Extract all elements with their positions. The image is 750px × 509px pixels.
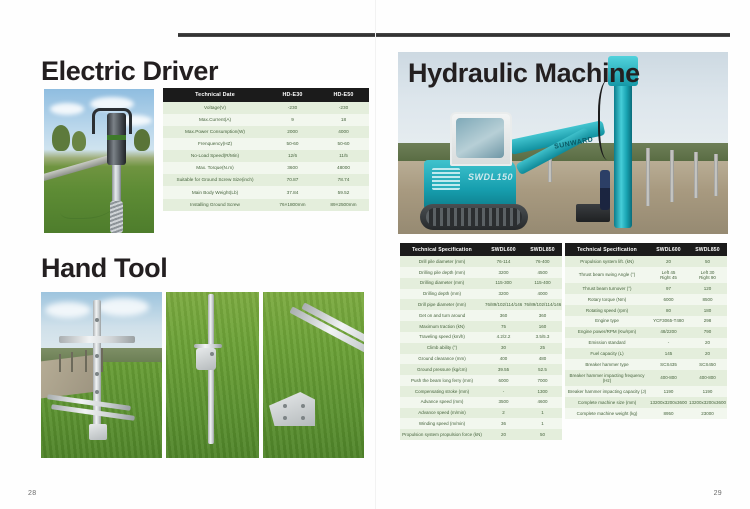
table-row: Ground pressure (kg/cm)39.5552.5 <box>400 364 562 375</box>
row-label: Complete machine size (mm) <box>565 397 649 408</box>
electric-driver-spec-table: Technical Date HD-E30 HD-E50 Voltage(V)-… <box>163 88 369 211</box>
row-value: 48/2200 <box>649 327 688 338</box>
table-row: Suitable for Ground Screw Size(inch)70.8… <box>163 174 369 186</box>
row-value: 50-60 <box>318 138 369 150</box>
table-row: Winding speed (m/min)361 <box>400 418 562 429</box>
hand-tool-photo-1 <box>41 292 162 458</box>
col-header-swdl850: SWDL850 <box>523 243 562 256</box>
row-value: -230 <box>267 102 318 114</box>
table-row: Thrust beam swing Angle (°)Left 45Right … <box>565 267 727 283</box>
catalog-spread: Electric Driver Technical Date HD-E30 HD… <box>0 0 750 509</box>
row-value: 18 <box>318 114 369 126</box>
col-header-spec: Technical Specification <box>400 243 484 256</box>
electric-driver-photo <box>44 89 154 233</box>
row-label: Climb ability (°) <box>400 343 484 354</box>
col-header-swdl850: SWDL850 <box>688 243 727 256</box>
row-label: Engine type <box>565 316 649 327</box>
row-value: 11/5 <box>318 150 369 162</box>
table-header-row: Technical Specification SWDL600 SWDL850 <box>565 243 727 256</box>
table-row: No-Load Speed(R/Min)12/611/5 <box>163 150 369 162</box>
table-row: Maximum traction (kN)75160 <box>400 321 562 332</box>
row-value: 480 <box>523 354 562 365</box>
row-value: 180 <box>688 305 727 316</box>
col-header-swdl600: SWDL600 <box>484 243 523 256</box>
table-row: Complete machine weight (kg)895023000 <box>565 408 727 419</box>
row-value: 298 <box>688 316 727 327</box>
row-value: Left 45Right 45 <box>649 267 688 283</box>
table-row: Complete machine size (mm)13200x3200x360… <box>565 397 727 408</box>
row-value: - <box>484 386 523 397</box>
row-label: Breaker hammer type <box>565 359 649 370</box>
col-header-spec: Technical Specification <box>565 243 649 256</box>
row-value: 97 <box>649 283 688 294</box>
row-value: 3500 <box>484 397 523 408</box>
table-row: Compensating stroke (mm)-1300 <box>400 386 562 397</box>
row-value: 76/89/102/114/146 <box>523 299 562 310</box>
hand-tool-photo-2 <box>166 292 259 458</box>
row-label: Advance speed (mm) <box>400 397 484 408</box>
row-label: Thrust beam turnover (°) <box>565 283 649 294</box>
table-row: Engine power/RPM (Kw/rpm)48/2200790 <box>565 327 727 338</box>
table-header-row: Technical Date HD-E30 HD-E50 <box>163 88 369 102</box>
row-value: 9 <box>267 114 318 126</box>
row-value: 59.52 <box>318 186 369 198</box>
row-label: Ground clearance (mm) <box>400 354 484 365</box>
row-value: 76/89/102/114/146 <box>484 299 523 310</box>
table-row: Engine typeYCF3065-T480298 <box>565 316 727 327</box>
table-row: Breaker hammer typeSCS435SCS450 <box>565 359 727 370</box>
table-row: Ground clearance (mm)400480 <box>400 354 562 365</box>
row-value: 80 <box>649 305 688 316</box>
table-row: Breaker hammer impacting frequency (Hz)4… <box>565 370 727 386</box>
table-row: Breaker hammer impacting capacity (J)119… <box>565 386 727 397</box>
row-label: Main Body Weight(Lb) <box>163 186 267 198</box>
row-label: Breaker hammer impacting capacity (J) <box>565 386 649 397</box>
row-label: Breaker hammer impacting frequency (Hz) <box>565 370 649 386</box>
row-value: 37.84 <box>267 186 318 198</box>
table-row: Push the beam long ferry (mm)60007000 <box>400 375 562 386</box>
hydraulic-right-table-body: Propulsion system lift. (kN)2050Thrust b… <box>565 256 727 419</box>
top-divider-rule <box>178 33 730 37</box>
row-value: 30 <box>484 343 523 354</box>
row-value: 3.5/5.3 <box>523 332 562 343</box>
row-value: 4000 <box>523 289 562 300</box>
row-label: Drilling pile depth (mm) <box>400 267 484 278</box>
row-value: 1190 <box>688 386 727 397</box>
row-value: 3200 <box>484 289 523 300</box>
section-title-electric-driver: Electric Driver <box>41 56 218 87</box>
row-value: 76-400 <box>523 256 562 267</box>
row-value: 13200x3200x3600 <box>688 397 727 408</box>
row-value: 6000 <box>649 294 688 305</box>
row-value: 360 <box>523 310 562 321</box>
row-value: 1190 <box>649 386 688 397</box>
row-label: Max.Current(A) <box>163 114 267 126</box>
table-row: Advance speed (m/min)21 <box>400 408 562 419</box>
row-value: 115-400 <box>523 278 562 289</box>
row-value: 52.5 <box>523 364 562 375</box>
row-label: Max. Torque(N.m) <box>163 162 267 174</box>
row-label: Rotary torque (Nm) <box>565 294 649 305</box>
machine-model-text: SWDL150 <box>468 172 513 182</box>
row-value: 89×2500mm <box>318 199 369 211</box>
row-label: Frenquency(HZ) <box>163 138 267 150</box>
row-label: Advance speed (m/min) <box>400 408 484 419</box>
hydraulic-spec-table-left: Technical Specification SWDL600 SWDL850 … <box>400 243 562 440</box>
row-label: Drill pipe diameter (mm) <box>400 299 484 310</box>
row-value: 25 <box>523 343 562 354</box>
row-value: 790 <box>688 327 727 338</box>
row-value: 1 <box>523 408 562 419</box>
row-value: 12/6 <box>267 150 318 162</box>
table-row: Voltage(V)-230-230 <box>163 102 369 114</box>
row-label: Complete machine weight (kg) <box>565 408 649 419</box>
row-label: Propulsion system lift. (kN) <box>565 256 649 267</box>
row-label: Winding speed (m/min) <box>400 418 484 429</box>
row-value: YCF3065-T480 <box>649 316 688 327</box>
table-row: Drilling diameter (mm)115-300115-400 <box>400 278 562 289</box>
row-label: Maximum traction (kN) <box>400 321 484 332</box>
section-title-hand-tool: Hand Tool <box>41 253 167 284</box>
row-value: 120 <box>688 283 727 294</box>
hydraulic-spec-table-right: Technical Specification SWDL600 SWDL850 … <box>565 243 727 419</box>
row-label: Compensating stroke (mm) <box>400 386 484 397</box>
row-value: 20 <box>484 429 523 440</box>
table-row: Advance speed (mm)35004600 <box>400 397 562 408</box>
electric-driver-table-body: Voltage(V)-230-230Max.Current(A)918Max.P… <box>163 102 369 211</box>
row-label: Thrust beam swing Angle (°) <box>565 267 649 283</box>
row-label: Installing Ground Screw <box>163 199 267 211</box>
table-row: Propulsion system propulsion force (kN)2… <box>400 429 562 440</box>
row-value: 160 <box>523 321 562 332</box>
table-row: Thrust beam turnover (°)97120 <box>565 283 727 294</box>
table-row: Drill pile diameter (mm)76-11476-400 <box>400 256 562 267</box>
page-number-right: 29 <box>714 490 722 497</box>
table-row: Emission standard-20 <box>565 338 727 349</box>
page-number-left: 28 <box>28 490 36 497</box>
table-row: Rotating speed (rpm)80180 <box>565 305 727 316</box>
row-value: 36 <box>484 418 523 429</box>
row-value: 76×1800mm <box>267 199 318 211</box>
table-header-row: Technical Specification SWDL600 SWDL850 <box>400 243 562 256</box>
row-value: 4.2/2.2 <box>484 332 523 343</box>
row-value: 4600 <box>523 397 562 408</box>
table-row: Drilling pile depth (mm)32004500 <box>400 267 562 278</box>
table-row: Installing Ground Screw76×1800mm89×2500m… <box>163 199 369 211</box>
row-label: Drilling diameter (mm) <box>400 278 484 289</box>
row-value: 78.74 <box>318 174 369 186</box>
col-header-spec: Technical Date <box>163 88 267 102</box>
row-value: 115-300 <box>484 278 523 289</box>
row-value: 400-800 <box>649 370 688 386</box>
page-spine <box>375 0 376 509</box>
row-label: No-Load Speed(R/Min) <box>163 150 267 162</box>
row-value: 39.55 <box>484 364 523 375</box>
row-value: - <box>649 338 688 349</box>
row-value: 3200 <box>484 267 523 278</box>
hand-tool-photo-3 <box>263 292 364 458</box>
row-value: 50 <box>523 429 562 440</box>
table-row: Climb ability (°)3025 <box>400 343 562 354</box>
col-header-hd-e50: HD-E50 <box>318 88 369 102</box>
row-value: 2000 <box>267 126 318 138</box>
row-value: 50-60 <box>267 138 318 150</box>
row-value: 400 <box>484 354 523 365</box>
row-value: 23000 <box>688 408 727 419</box>
row-value: 4500 <box>523 267 562 278</box>
row-label: Traveling speed (km/h) <box>400 332 484 343</box>
row-label: Emission standard <box>565 338 649 349</box>
row-value: 20 <box>688 338 727 349</box>
row-value: 7000 <box>523 375 562 386</box>
row-value: 2 <box>484 408 523 419</box>
row-value: 6000 <box>484 375 523 386</box>
row-label: Rotating speed (rpm) <box>565 305 649 316</box>
row-value: 76-114 <box>484 256 523 267</box>
row-value: 400-800 <box>688 370 727 386</box>
table-row: Drilling depth (mm)32004000 <box>400 289 562 300</box>
row-value: 75 <box>484 321 523 332</box>
row-value: SCS435 <box>649 359 688 370</box>
row-label: Push the beam long ferry (mm) <box>400 375 484 386</box>
table-row: Main Body Weight(Lb)37.8459.52 <box>163 186 369 198</box>
row-value: -230 <box>318 102 369 114</box>
row-value: 70.87 <box>267 174 318 186</box>
section-title-hydraulic-machine: Hydraulic Machine <box>408 58 640 89</box>
row-label: Max.Power Consumption(W) <box>163 126 267 138</box>
row-label: Fuel capacity (L) <box>565 348 649 359</box>
row-value: 13200x3200x3600 <box>649 397 688 408</box>
table-row: Propulsion system lift. (kN)2050 <box>565 256 727 267</box>
row-label: Engine power/RPM (Kw/rpm) <box>565 327 649 338</box>
table-row: Fuel capacity (L)14520 <box>565 348 727 359</box>
table-row: Max.Power Consumption(W)20004000 <box>163 126 369 138</box>
row-value: 20 <box>688 348 727 359</box>
row-value: 48000 <box>318 162 369 174</box>
row-value: SCS450 <box>688 359 727 370</box>
row-value: 4000 <box>318 126 369 138</box>
row-value: 50 <box>688 256 727 267</box>
row-value: 8950 <box>649 408 688 419</box>
table-row: Frenquency(HZ)50-6050-60 <box>163 138 369 150</box>
table-row: Get on and turn around360360 <box>400 310 562 321</box>
table-row: Drill pipe diameter (mm)76/89/102/114/14… <box>400 299 562 310</box>
table-row: Rotary torque (Nm)60008500 <box>565 294 727 305</box>
row-label: Drilling depth (mm) <box>400 289 484 300</box>
row-value: 145 <box>649 348 688 359</box>
table-row: Traveling speed (km/h)4.2/2.23.5/5.3 <box>400 332 562 343</box>
table-row: Max. Torque(N.m)360048000 <box>163 162 369 174</box>
row-value: 20 <box>649 256 688 267</box>
row-value: Left 30Right 90 <box>688 267 727 283</box>
col-header-swdl600: SWDL600 <box>649 243 688 256</box>
col-header-hd-e30: HD-E30 <box>267 88 318 102</box>
row-label: Propulsion system propulsion force (kN) <box>400 429 484 440</box>
row-value: 1300 <box>523 386 562 397</box>
row-value: 360 <box>484 310 523 321</box>
row-value: 8500 <box>688 294 727 305</box>
hydraulic-left-table-body: Drill pile diameter (mm)76-11476-400Dril… <box>400 256 562 440</box>
row-label: Suitable for Ground Screw Size(inch) <box>163 174 267 186</box>
row-label: Voltage(V) <box>163 102 267 114</box>
table-row: Max.Current(A)918 <box>163 114 369 126</box>
row-label: Drill pile diameter (mm) <box>400 256 484 267</box>
row-label: Ground pressure (kg/cm) <box>400 364 484 375</box>
row-value: 3600 <box>267 162 318 174</box>
row-value: 1 <box>523 418 562 429</box>
row-label: Get on and turn around <box>400 310 484 321</box>
